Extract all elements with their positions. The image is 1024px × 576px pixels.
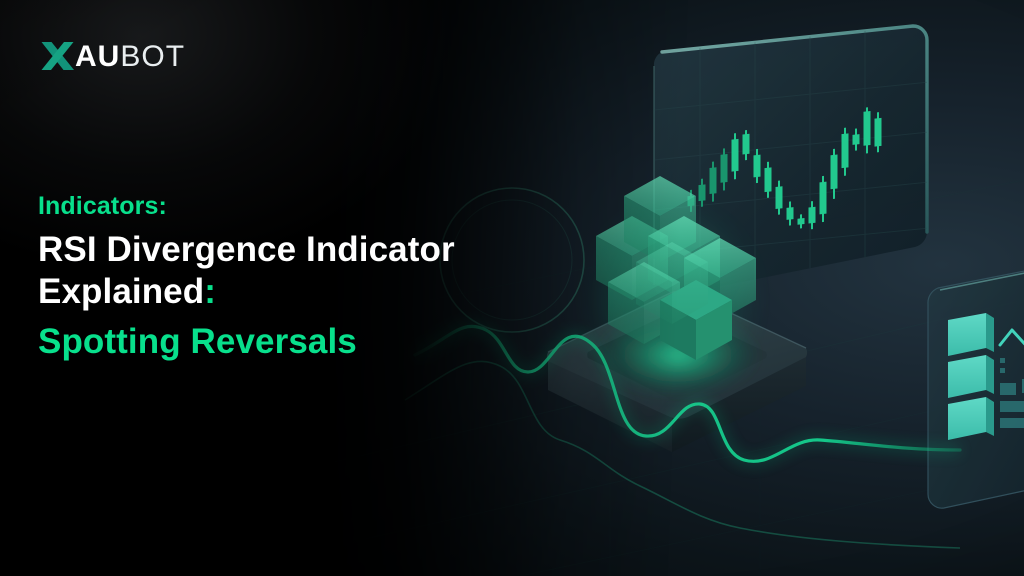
title-line-2: Explained [38,272,204,311]
eyebrow-label: Indicators: [38,192,558,222]
brand-logo[interactable]: AUBOT [38,36,185,76]
title-line-1: RSI Divergence Indicator [38,230,455,269]
logo-text-light: BOT [120,40,185,73]
headline-block: Indicators: RSI Divergence IndicatorExpl… [38,192,558,364]
page-subtitle: Spotting Reversals [38,321,558,364]
logo-text-bold: AU [75,40,120,73]
title-colon: : [204,272,216,311]
page-title: RSI Divergence IndicatorExplained: [38,229,558,314]
x-logo-icon [38,36,78,76]
banner-root: AUBOT Indicators: RSI Divergence Indicat… [0,0,1024,576]
